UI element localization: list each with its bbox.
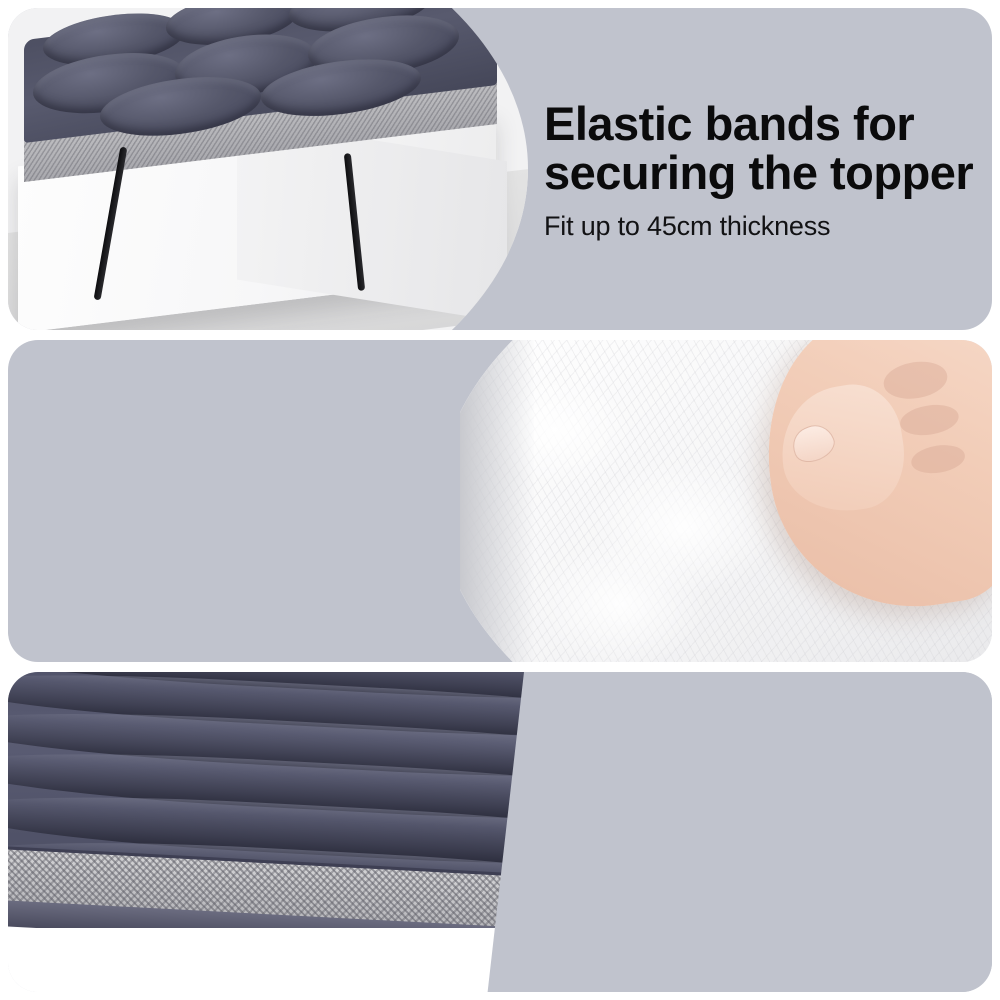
- white-backdrop: [8, 928, 568, 992]
- panel-elastic-bands: Elastic bands for securing the topper Fi…: [8, 8, 992, 330]
- panel-microfibre-filling: Innovative microfibre filing Soft and co…: [8, 340, 992, 662]
- elastic-bands-copy: Elastic bands for securing the topper Fi…: [544, 100, 992, 242]
- knuckle-crease: [909, 442, 966, 477]
- thick-topper-illustration: [8, 672, 568, 992]
- knuckle-crease: [898, 401, 961, 439]
- microfibre-illustration: [460, 340, 992, 662]
- infographic-board: Elastic bands for securing the topper Fi…: [0, 0, 1000, 1000]
- fingernail: [786, 420, 838, 468]
- thick-topper-photo: [8, 672, 568, 992]
- knuckle-crease: [881, 358, 949, 403]
- panel-ultra-thick: Ultra thick Durable & long-lasting: [8, 672, 992, 992]
- index-finger: [772, 378, 912, 520]
- topper-corner-photo: [8, 8, 528, 330]
- ultra-thick-copy-slab: [472, 672, 992, 992]
- elastic-bands-subline: Fit up to 45cm thickness: [544, 210, 992, 242]
- microfibre-hand-photo: [460, 340, 992, 662]
- elastic-bands-headline: Elastic bands for securing the topper: [544, 100, 992, 198]
- fibre-edge-shadow: [460, 340, 534, 662]
- topper-corner-illustration: [8, 8, 528, 330]
